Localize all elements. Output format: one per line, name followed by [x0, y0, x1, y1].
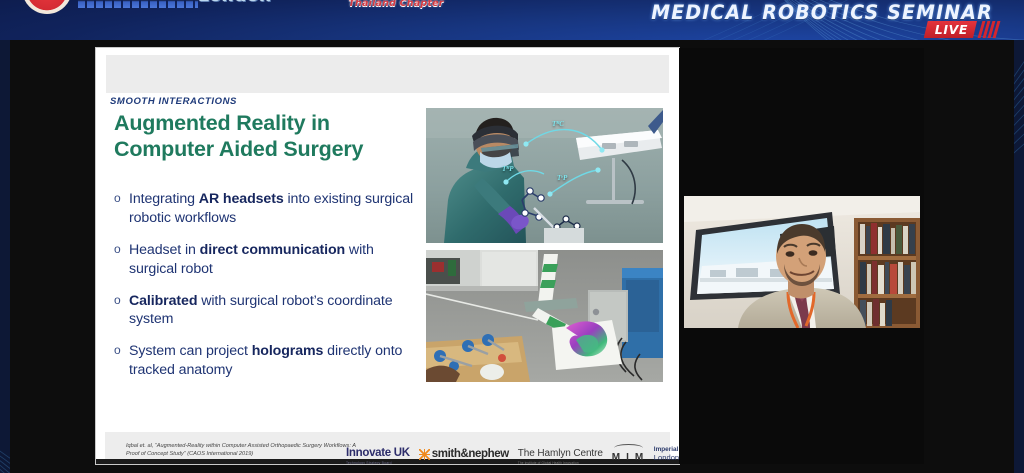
mim-arc-icon	[614, 444, 643, 448]
innovate-uk-logo: Innovate UK Technology Strategy Board	[346, 443, 410, 464]
stage-body: SMOOTH INTERACTIONS Augmented Reality in…	[0, 40, 1024, 473]
broadcast-header: London Thailand Chapter MEDICAL ROBOTICS…	[0, 0, 1024, 40]
partner-wordmark-logo	[78, 0, 198, 8]
imperial-college-name: Imperial College	[654, 446, 679, 453]
photo-ar-surgeon-art	[426, 108, 663, 243]
transform-label-hp: TᴴP	[502, 165, 514, 173]
bullet-text: Headset in direct communication with sur…	[129, 241, 419, 279]
rcsi-crest-logo	[22, 0, 72, 14]
bullet-marker-icon: o	[114, 342, 129, 380]
bullet-text: Integrating AR headsets into existing su…	[129, 190, 419, 228]
smith-nephew-star-icon	[419, 449, 430, 460]
slide-bullet-list: o Integrating AR headsets into existing …	[114, 190, 419, 393]
innovate-uk-name: Innovate UK	[346, 447, 410, 459]
bullet-marker-icon: o	[114, 190, 129, 228]
hamlyn-centre-name: The Hamlyn Centre	[518, 448, 603, 459]
transform-label-hc: TᴴC	[552, 120, 564, 128]
speaker-webcam-art	[684, 196, 920, 328]
photo-ar-surgeon: TᴴC TᴴP TᶜP	[426, 108, 663, 243]
speaker-webcam-panel[interactable]	[679, 48, 924, 464]
list-item: o Calibrated with surgical robot’s coord…	[114, 292, 419, 330]
slide-title-line1: Augmented Reality in	[114, 111, 330, 135]
mim-logo: M I M	[612, 444, 645, 465]
list-item: o Headset in direct communication with s…	[114, 241, 419, 279]
content-letterbox: SMOOTH INTERACTIONS Augmented Reality in…	[10, 40, 1014, 473]
list-item: o Integrating AR headsets into existing …	[114, 190, 419, 228]
presentation-slide[interactable]: SMOOTH INTERACTIONS Augmented Reality in…	[96, 48, 679, 464]
slide-top-band	[106, 55, 669, 93]
bullet-marker-icon: o	[114, 241, 129, 279]
slide-title-line2: Computer Aided Surgery	[114, 137, 363, 161]
slide-citation: Iqbal et. al, “Augmented-Reality within …	[126, 442, 361, 459]
london-logo: London	[198, 0, 272, 16]
photo-hologram-lab-art	[426, 250, 663, 382]
list-item: o System can project holograms directly …	[114, 342, 419, 380]
imperial-college-city: London	[654, 453, 679, 462]
imperial-college-logo: Imperial College London	[654, 446, 679, 462]
slide-title: Augmented Reality in Computer Aided Surg…	[114, 110, 414, 162]
smith-nephew-name: smith&nephew	[432, 448, 509, 460]
crest-disc-shape	[22, 0, 72, 14]
live-badge: LIVE	[924, 21, 998, 38]
thailand-chapter-logo: Thailand Chapter	[336, 0, 456, 14]
thailand-chapter-label: Thailand Chapter	[336, 0, 456, 9]
speaker-webcam-feed[interactable]	[684, 196, 920, 328]
bullet-text: Calibrated with surgical robot’s coordin…	[129, 292, 419, 330]
bullet-marker-icon: o	[114, 292, 129, 330]
transform-label-cp: TᶜP	[557, 174, 567, 182]
broadcast-stage: London Thailand Chapter MEDICAL ROBOTICS…	[0, 0, 1024, 473]
sponsor-logo-strip: Innovate UK Technology Strategy Board sm…	[346, 443, 671, 464]
hamlyn-centre-logo: The Hamlyn Centre The Institute of Globa…	[518, 443, 603, 464]
hamlyn-centre-tagline: The Institute of Global Health Innovatio…	[518, 461, 603, 464]
bullet-text: System can project holograms directly on…	[129, 342, 419, 380]
smith-nephew-logo: smith&nephew	[419, 448, 509, 460]
photo-hologram-lab	[426, 250, 663, 382]
innovate-uk-tagline: Technology Strategy Board	[346, 461, 410, 464]
slide-kicker: SMOOTH INTERACTIONS	[110, 96, 237, 107]
live-stripes-icon	[980, 21, 998, 38]
live-label: LIVE	[924, 21, 977, 38]
mim-name: M I M	[612, 452, 645, 463]
